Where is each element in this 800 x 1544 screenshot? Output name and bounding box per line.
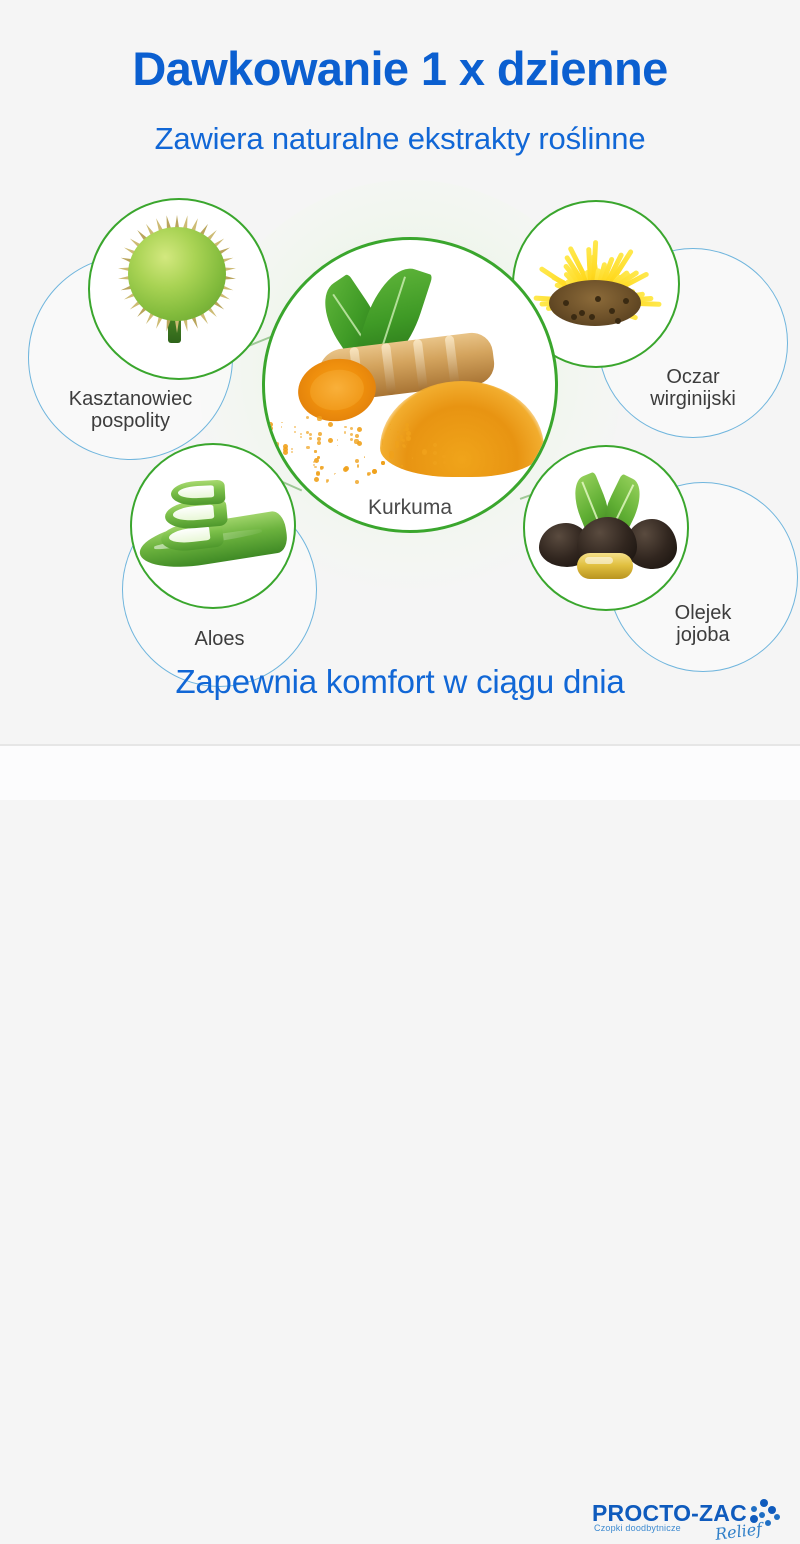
page-subtitle: Zawiera naturalne ekstrakty roślinne bbox=[0, 122, 800, 156]
label-kasztanowiec-line2: pospolity bbox=[91, 410, 170, 432]
ingredient-photo-jojoba bbox=[523, 445, 689, 611]
turmeric-grain bbox=[433, 451, 437, 455]
ingredient-photo-kurkuma: Kurkuma bbox=[262, 237, 558, 533]
turmeric-grain bbox=[344, 431, 346, 433]
turmeric-grain bbox=[395, 444, 399, 448]
turmeric-grain bbox=[317, 416, 321, 420]
ingredient-photo-aloes bbox=[130, 443, 296, 609]
turmeric-grain bbox=[367, 472, 370, 475]
page-tagline: Zapewnia komfort w ciągu dnia bbox=[0, 663, 800, 701]
footer-bar: PROCTO-ZAC Czopki doodbytnicze Relief bbox=[0, 746, 800, 800]
turmeric-grain bbox=[406, 444, 407, 445]
turmeric-grain bbox=[350, 438, 353, 441]
turmeric-grain bbox=[318, 432, 322, 436]
turmeric-grain bbox=[291, 451, 292, 452]
witch-hazel-bud bbox=[571, 314, 577, 320]
turmeric-grain bbox=[344, 426, 346, 428]
turmeric-grain bbox=[326, 479, 328, 481]
turmeric-grain bbox=[412, 458, 413, 459]
turmeric-grain bbox=[328, 438, 333, 443]
turmeric-grain bbox=[350, 433, 353, 436]
ingredient-photo-kasztanowiec bbox=[88, 198, 270, 380]
turmeric-grain bbox=[320, 466, 323, 469]
turmeric-grain bbox=[433, 461, 437, 465]
label-aloes: Aloes bbox=[188, 628, 250, 650]
turmeric-grain bbox=[451, 447, 453, 449]
aloe-icon bbox=[137, 469, 289, 589]
turmeric-grain bbox=[357, 427, 362, 432]
brand-diamond-icon bbox=[746, 1499, 782, 1529]
turmeric-grain bbox=[403, 429, 405, 431]
turmeric-grain bbox=[355, 434, 359, 438]
turmeric-grain bbox=[350, 427, 353, 430]
turmeric-grain bbox=[281, 422, 282, 423]
turmeric-grain bbox=[391, 453, 394, 456]
label-oczar: Oczar wirginijski bbox=[644, 366, 742, 411]
turmeric-grain bbox=[381, 461, 385, 465]
turmeric-root-band bbox=[445, 335, 460, 388]
witch-hazel-bud bbox=[615, 318, 621, 324]
turmeric-root-band bbox=[381, 343, 396, 396]
label-aloes-line1: Aloes bbox=[194, 628, 244, 650]
turmeric-grain bbox=[328, 422, 333, 427]
witch-hazel-bud bbox=[595, 296, 601, 302]
turmeric-grain bbox=[337, 445, 338, 446]
label-jojoba-line1: Olejek bbox=[675, 602, 732, 624]
turmeric-icon bbox=[276, 263, 544, 495]
jojoba-oil-capsule bbox=[577, 553, 633, 579]
turmeric-grain bbox=[357, 464, 359, 466]
witch-hazel-bud bbox=[589, 314, 595, 320]
turmeric-grain bbox=[314, 477, 319, 482]
turmeric-grain bbox=[281, 426, 282, 427]
label-kasztanowiec-line1: Kasztanowiec bbox=[69, 388, 192, 410]
brand-logo[interactable]: PROCTO-ZAC Czopki doodbytnicze Relief bbox=[592, 1498, 778, 1542]
witch-hazel-bud bbox=[579, 310, 585, 316]
label-jojoba: Olejek jojoba bbox=[669, 602, 738, 647]
turmeric-grain bbox=[355, 459, 359, 463]
turmeric-grain bbox=[400, 438, 403, 441]
turmeric-grain bbox=[334, 473, 335, 474]
turmeric-grain bbox=[442, 455, 445, 458]
turmeric-grain bbox=[300, 433, 302, 435]
horse-chestnut-icon bbox=[104, 209, 254, 359]
label-oczar-line2: wirginijski bbox=[650, 388, 736, 410]
turmeric-grain bbox=[291, 448, 292, 449]
turmeric-grain bbox=[294, 431, 296, 433]
turmeric-grain bbox=[317, 456, 320, 459]
turmeric-grain bbox=[354, 439, 358, 443]
turmeric-grain bbox=[294, 426, 296, 428]
witch-hazel-bud bbox=[609, 308, 615, 314]
witch-hazel-bud bbox=[563, 300, 569, 306]
turmeric-grain bbox=[405, 423, 409, 427]
turmeric-grain bbox=[317, 441, 321, 445]
label-jojoba-line2: jojoba bbox=[676, 624, 729, 646]
turmeric-grain bbox=[275, 445, 279, 449]
turmeric-grain bbox=[314, 466, 316, 468]
turmeric-grain bbox=[283, 450, 288, 455]
label-oczar-line1: Oczar bbox=[666, 366, 719, 388]
brand-subtitle: Czopki doodbytnicze bbox=[594, 1523, 681, 1533]
turmeric-grain bbox=[402, 444, 405, 447]
label-kasztanowiec: Kasztanowiec pospolity bbox=[63, 388, 198, 433]
turmeric-grain bbox=[306, 446, 309, 449]
aloe-slice bbox=[170, 480, 225, 507]
infographic-canvas: Dawkowanie 1 x dzienne Zawiera naturalne… bbox=[0, 0, 800, 800]
turmeric-grain bbox=[300, 436, 302, 438]
page-title: Dawkowanie 1 x dzienne bbox=[0, 44, 800, 93]
jojoba-icon bbox=[533, 473, 679, 593]
turmeric-grain bbox=[314, 450, 316, 452]
turmeric-grain bbox=[337, 439, 338, 440]
turmeric-grain bbox=[344, 466, 349, 471]
turmeric-grain bbox=[268, 426, 273, 431]
turmeric-grain bbox=[355, 480, 359, 484]
turmeric-grain bbox=[443, 461, 446, 464]
turmeric-root-band bbox=[413, 339, 428, 392]
turmeric-grain bbox=[313, 461, 314, 462]
turmeric-grain bbox=[306, 416, 309, 419]
turmeric-grain bbox=[309, 433, 312, 436]
chestnut-husk bbox=[128, 227, 226, 321]
witch-hazel-bud bbox=[623, 298, 629, 304]
label-kurkuma: Kurkuma bbox=[265, 496, 555, 520]
turmeric-grain bbox=[364, 457, 365, 458]
turmeric-grain bbox=[309, 437, 312, 440]
